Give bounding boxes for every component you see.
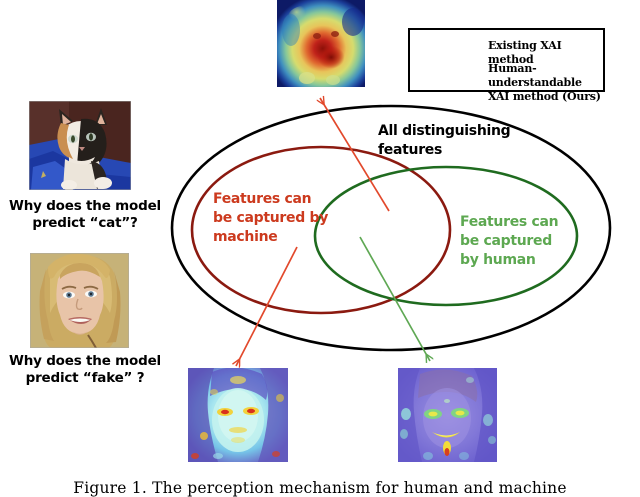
human-ellipse-label-line1: Features can	[460, 213, 558, 232]
human-ellipse-label-line2: be captured	[460, 232, 558, 251]
human-ellipse-label-line3: by human	[460, 251, 558, 270]
legend-item-human-understandable-xai: Human-understandable XAI method (Ours)	[488, 62, 606, 104]
red-arrow-to-face-heatmap	[236, 247, 297, 366]
machine-ellipse-label: Features can be captured by machine	[213, 190, 328, 247]
outer-ellipse-label-line2: features	[378, 141, 510, 160]
human-ellipse-label: Features can be captured by human	[460, 213, 558, 270]
green-arrow-to-face-heatmap	[360, 237, 430, 361]
figure-canvas: Why does the model predict “cat”?	[0, 0, 640, 496]
legend-item-human-understandable-xai-line1: Human-understandable	[488, 62, 606, 90]
legend-item-human-understandable-xai-line2: XAI method (Ours)	[488, 90, 606, 104]
machine-ellipse-label-line3: machine	[213, 228, 328, 247]
outer-ellipse-label: All distinguishing features	[378, 122, 510, 160]
machine-ellipse-label-line2: be captured by	[213, 209, 328, 228]
outer-ellipse-label-line1: All distinguishing	[378, 122, 510, 141]
machine-ellipse-label-line1: Features can	[213, 190, 328, 209]
figure-caption: Figure 1. The perception mechanism for h…	[0, 479, 640, 497]
